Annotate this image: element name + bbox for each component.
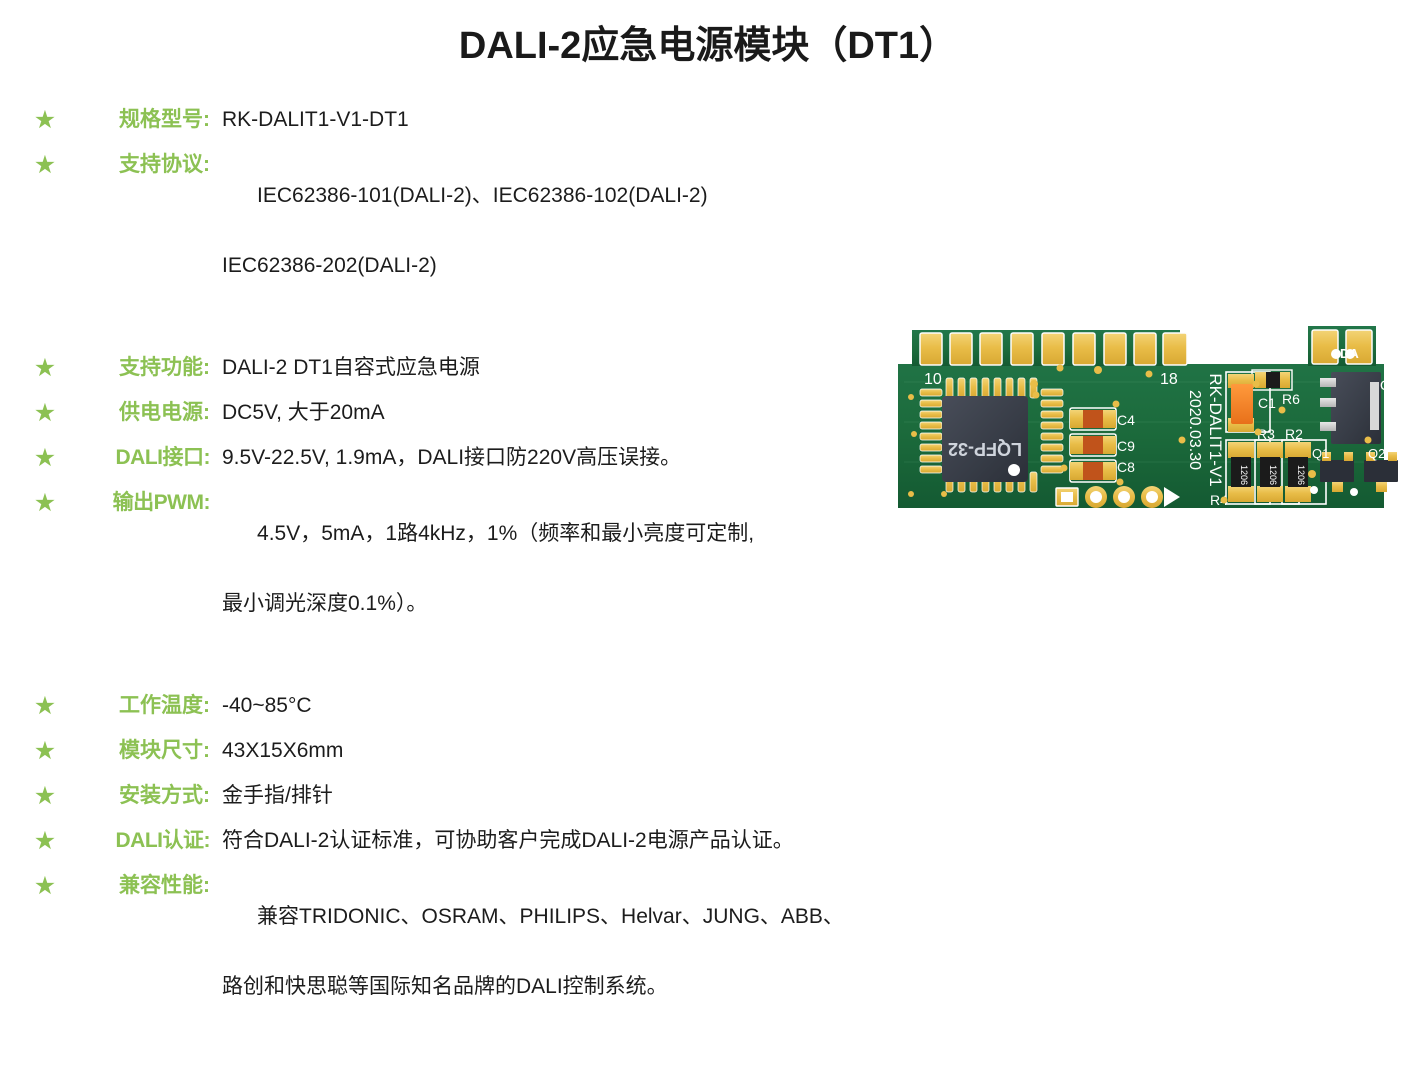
spec-value: 符合DALI-2认证标准，可协助客户完成DALI-2电源产品认证。 [222,825,960,856]
spec-value: 9.5V-22.5V, 1.9mA，DALI接口防220V高压误接。 [222,442,960,473]
star-icon: ★ [30,398,60,428]
spec-value: RK-DALIT1-V1-DT1 [222,104,960,135]
spec-value-line2: 最小调光深度0.1%）。 [222,588,960,619]
spec-value: 43X15X6mm [222,735,960,766]
star-icon: ★ [30,691,60,721]
silkscreen-pin-18: 18 [1160,371,1178,388]
silkscreen-r2: R2 [1285,426,1303,442]
spec-list: ★ 规格型号: RK-DALIT1-V1-DT1 ★ 支持协议: IEC6238… [0,104,960,1073]
silkscreen-da-label: DA [1340,346,1359,361]
spec-label: DALI认证: [60,825,212,856]
silkscreen-q1: Q1 [1312,446,1329,461]
star-icon: ★ [30,736,60,766]
spec-label: 支持协议: [60,149,212,180]
star-icon: ★ [30,781,60,811]
silkscreen-q2: Q2 [1368,446,1385,461]
spec-label: 模块尺寸: [60,735,212,766]
spec-label: 工作温度: [60,690,212,721]
spec-label: DALI接口: [60,442,212,473]
spec-label: 供电电源: [60,397,212,428]
spec-row: ★ 模块尺寸: 43X15X6mm [0,735,960,771]
spec-value-line1: 4.5V，5mA，1路4kHz，1%（频率和最小亮度可定制, [257,522,754,545]
pcb-module-image: DA 10 18 [884,312,1404,530]
silkscreen-c4: C4 [1117,412,1135,428]
spec-value: DC5V, 大于20mA [222,397,960,428]
spec-row: ★ 兼容性能: 兼容TRIDONIC、OSRAM、PHILIPS、Helvar、… [0,870,960,1064]
silkscreen-c9: C9 [1117,438,1135,454]
spec-value-line1: IEC62386-101(DALI-2)、IEC62386-102(DALI-2… [257,184,708,207]
silkscreen-chip-label: LQFP-32 [948,439,1022,459]
spec-row: ★ 供电电源: DC5V, 大于20mA [0,397,960,433]
spec-row: ★ 支持功能: DALI-2 DT1自容式应急电源 [0,352,960,388]
star-icon: ★ [30,150,60,180]
silkscreen-r6: R6 [1282,391,1300,407]
silkscreen-q3: Q3 [1380,377,1399,393]
silkscreen-res-code-1: 1206 [1239,465,1249,485]
silkscreen-c1: C1 [1258,395,1276,411]
silkscreen-c8: C8 [1117,459,1135,475]
spec-value-line2: 路创和快思聪等国际知名品牌的DALI控制系统。 [222,971,960,1002]
star-icon: ★ [30,353,60,383]
page-title: DALI-2应急电源模块（DT1） [0,14,1416,69]
silkscreen-board-date: 2020.03.30 [1186,390,1203,470]
spec-row: ★ 安装方式: 金手指/排针 [0,780,960,816]
spec-label: 输出PWM: [60,487,212,518]
star-icon: ★ [30,826,60,856]
silkscreen-pin-10: 10 [924,371,942,388]
spec-value: 金手指/排针 [222,780,960,811]
silkscreen-board-name: RK-DALIT1-V1 [1206,373,1225,486]
silkscreen-res-code-3: 1206 [1296,465,1306,485]
spec-row: ★ 输出PWM: 4.5V，5mA，1路4kHz，1%（频率和最小亮度可定制, … [0,487,960,681]
spec-label: 支持功能: [60,352,212,383]
spec-value-line1: 兼容TRIDONIC、OSRAM、PHILIPS、Helvar、JUNG、ABB… [257,905,844,928]
spec-row: ★ DALI认证: 符合DALI-2认证标准，可协助客户完成DALI-2电源产品… [0,825,960,861]
gold-finger-pads [920,333,1187,365]
spec-row: ★ 工作温度: -40~85°C [0,690,960,726]
spec-value: IEC62386-101(DALI-2)、IEC62386-102(DALI-2… [222,149,960,343]
spec-row: ★ 规格型号: RK-DALIT1-V1-DT1 [0,104,960,140]
spec-value: -40~85°C [222,690,960,721]
star-icon: ★ [30,443,60,473]
spec-label: 安装方式: [60,780,212,811]
spec-value: 4.5V，5mA，1路4kHz，1%（频率和最小亮度可定制, 最小调光深度0.1… [222,487,960,681]
spec-label: 兼容性能: [60,870,212,901]
spec-value-line2: IEC62386-202(DALI-2) [222,250,960,281]
star-icon: ★ [30,105,60,135]
spec-value: DALI-2 DT1自容式应急电源 [222,352,960,383]
star-icon: ★ [30,871,60,901]
spec-row: ★ DALI接口: 9.5V-22.5V, 1.9mA，DALI接口防220V高… [0,442,960,478]
capacitor-cluster: C4 C9 C8 [1061,401,1136,486]
spec-value: 兼容TRIDONIC、OSRAM、PHILIPS、Helvar、JUNG、ABB… [222,870,960,1064]
silkscreen-res-code-2: 1206 [1268,465,1278,485]
spec-row: ★ 支持协议: IEC62386-101(DALI-2)、IEC62386-10… [0,149,960,343]
star-icon: ★ [30,488,60,518]
spec-label: 规格型号: [60,104,212,135]
